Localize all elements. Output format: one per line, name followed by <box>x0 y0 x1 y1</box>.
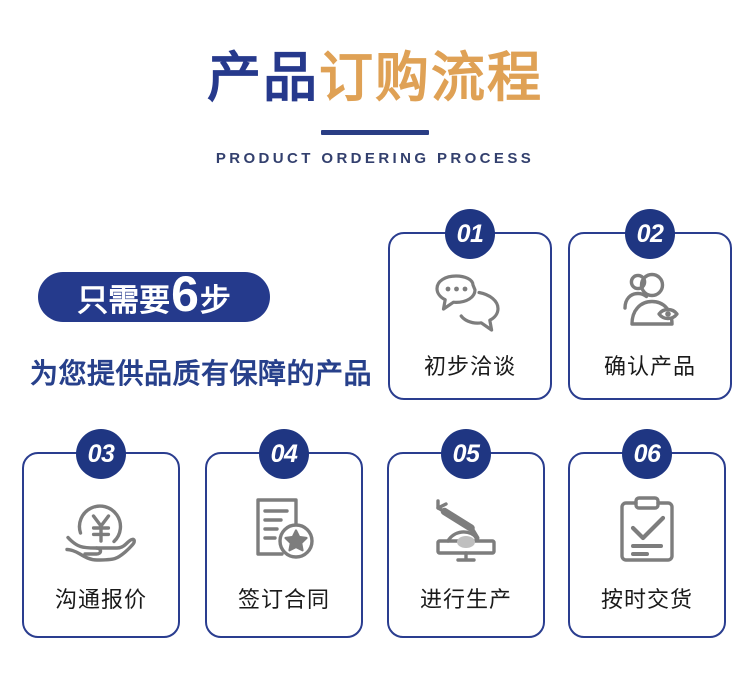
title-divider <box>321 130 429 135</box>
chat-bubbles-icon <box>390 268 550 340</box>
step-label-04: 签订合同 <box>207 582 361 614</box>
step-number-badge-03: 03 <box>76 429 126 479</box>
step-label-01: 初步洽谈 <box>390 349 550 381</box>
page-title: 产品订购流程 <box>0 46 750 110</box>
step-card-04[interactable]: 04 签订合同 <box>205 452 363 638</box>
step-label-03: 沟通报价 <box>24 582 178 614</box>
page-title-orange-part: 订购流程 <box>319 48 543 108</box>
clipboard-check-icon <box>570 490 724 570</box>
intro-tagline: 为您提供品质有保障的产品 <box>30 352 380 392</box>
page-subtitle: PRODUCT ORDERING PROCESS <box>0 150 750 167</box>
steps-count-badge: 只需要6步 <box>38 272 270 322</box>
steps-count-prefix: 只需要 <box>77 275 170 320</box>
step-number-badge-06: 06 <box>622 429 672 479</box>
steps-count-number: 6 <box>171 275 199 314</box>
step-card-01[interactable]: 01 初步洽谈 <box>388 232 552 400</box>
steps-count-suffix: 步 <box>200 275 231 320</box>
step-number-badge-04: 04 <box>259 429 309 479</box>
step-card-02[interactable]: 02 确认产品 <box>568 232 732 400</box>
step-card-06[interactable]: 06 按时交货 <box>568 452 726 638</box>
step-number-badge-01: 01 <box>445 209 495 259</box>
people-eye-icon <box>570 268 730 340</box>
step-label-05: 进行生产 <box>389 582 543 614</box>
step-label-02: 确认产品 <box>570 349 730 381</box>
page-header: 产品订购流程 PRODUCT ORDERING PROCESS <box>0 0 750 190</box>
step-card-05[interactable]: 05 进行生产 <box>387 452 545 638</box>
step-number-badge-05: 05 <box>441 429 491 479</box>
document-star-seal-icon <box>207 490 361 570</box>
robot-arm-icon <box>389 490 543 570</box>
page-title-blue-part: 产品 <box>207 48 319 108</box>
step-card-03[interactable]: 03 沟通报价 <box>22 452 180 638</box>
hand-yuan-coin-icon <box>24 490 178 570</box>
step-label-06: 按时交货 <box>570 582 724 614</box>
step-number-badge-02: 02 <box>625 209 675 259</box>
steps-count-badge-text: 只需要6步 <box>38 272 270 322</box>
